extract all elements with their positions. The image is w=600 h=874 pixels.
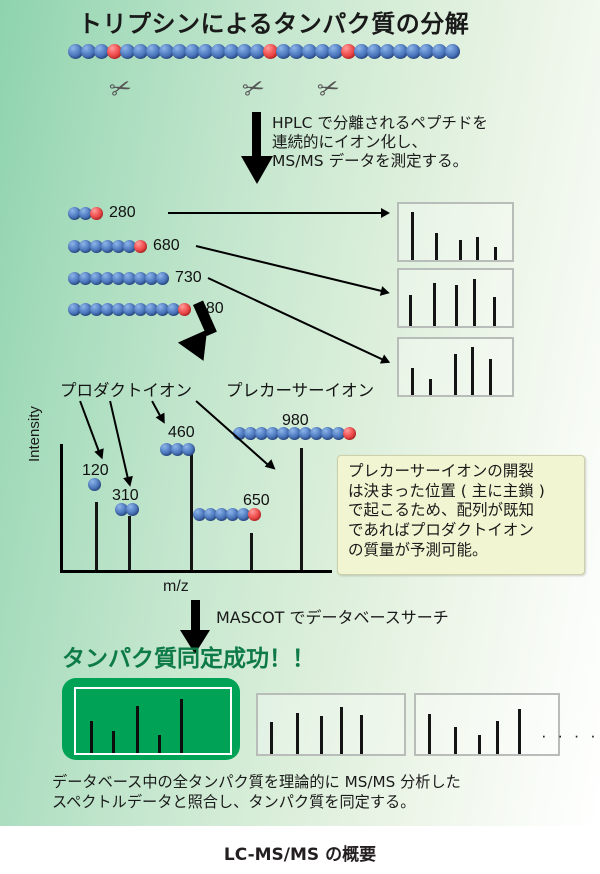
msms-peak xyxy=(300,448,303,570)
spectrum-peak xyxy=(493,297,496,326)
msms-peak xyxy=(95,502,98,570)
caption-text: データベース中の全タンパク質を理論的に MS/MS 分析した スペクトルデータと… xyxy=(52,772,461,812)
callout-line2: は決まった位置 ( 主に主鎖 ) xyxy=(348,482,545,500)
mascot-label: MASCOT でデータベースサーチ xyxy=(216,608,449,628)
connector-arrowhead xyxy=(380,355,392,368)
db-spectrum-peak xyxy=(158,735,161,753)
product-ion-bead-chain xyxy=(88,478,99,491)
x-axis-label: m/z xyxy=(163,577,189,597)
db-spectrum-peak xyxy=(454,727,457,754)
step1-title: トリプシンによるタンパク質の分解 xyxy=(78,10,469,39)
callout-line1: プレカーサーイオンの開裂 xyxy=(348,462,534,480)
spectrum-peak xyxy=(471,347,474,395)
db-spectrum-peak xyxy=(296,713,299,754)
protein-bead-chain xyxy=(68,44,458,59)
peptide-mass-label: 680 xyxy=(153,237,180,255)
connector-arrowhead xyxy=(380,286,391,298)
product-ion-mass-label: 460 xyxy=(168,424,195,442)
step2-text: HPLC で分離されるペプチドを 連続的にイオン化し、 MS/MS データを測定… xyxy=(272,114,488,171)
db-spectrum-3 xyxy=(414,693,560,756)
bead-red xyxy=(343,427,356,440)
spectrum-box-1 xyxy=(397,202,514,262)
db-spectrum-peak xyxy=(360,715,363,754)
bead-blue xyxy=(156,272,169,285)
pointer-line xyxy=(79,401,100,451)
down-arrow-icon xyxy=(188,305,238,371)
connector-line xyxy=(168,212,381,214)
scissors-icon: ✂ xyxy=(240,73,269,104)
msms-peak xyxy=(128,516,131,570)
spectrum-peak xyxy=(433,283,436,326)
spectrum-peak xyxy=(411,368,414,395)
bead-red xyxy=(248,508,261,521)
spectrum-peak xyxy=(459,240,462,260)
caption-line1: データベース中の全タンパク質を理論的に MS/MS 分析した xyxy=(52,773,461,791)
db-spectrum-peak xyxy=(478,735,481,754)
db-spectrum-peak xyxy=(112,731,115,753)
scissors-icon: ✂ xyxy=(315,73,344,104)
step2-line2: 連続的にイオン化し、 xyxy=(272,133,427,151)
db-spectrum-peak xyxy=(320,716,323,754)
spectrum-peak xyxy=(454,354,457,395)
gradient-panel: トリプシンによるタンパク質の分解 ✂ ✂ ✂ HPLC で分離されるペプチドを … xyxy=(0,0,600,826)
db-spectrum-peak xyxy=(518,709,521,754)
pointer-arrowhead xyxy=(94,448,107,461)
spectrum-box-3 xyxy=(397,337,514,397)
db-spectrum-match xyxy=(74,687,232,755)
bead-blue xyxy=(445,44,460,59)
down-arrow-icon xyxy=(240,112,274,184)
identification-success-title: タンパク質同定成功！！ xyxy=(62,645,315,673)
db-spectrum-peak xyxy=(180,699,183,753)
scissors-icon: ✂ xyxy=(107,73,136,104)
bead-red xyxy=(90,207,103,220)
peptide-mass-label: 280 xyxy=(109,204,136,222)
db-spectrum-peak xyxy=(270,722,273,754)
peptide-bead-chain xyxy=(68,303,189,316)
bead-blue xyxy=(182,443,195,456)
step2-line1: HPLC で分離されるペプチドを xyxy=(272,114,488,132)
peptide-bead-chain xyxy=(68,272,167,285)
callout-line3: で起こるため、配列が既知 xyxy=(348,501,534,519)
label-product-ion: プロダクトイオン xyxy=(60,381,192,401)
callout-box: プレカーサーイオンの開裂 は決まった位置 ( 主に主鎖 ) で起こるため、配列が… xyxy=(337,455,585,575)
label-precursor-ion: プレカーサーイオン xyxy=(226,381,374,401)
bead-red xyxy=(134,240,147,253)
spectrum-peak xyxy=(476,237,479,260)
db-spectrum-peak xyxy=(428,714,431,754)
y-axis-label: Intensity xyxy=(26,406,44,462)
spectrum-peak xyxy=(494,247,497,260)
spectrum-peak xyxy=(429,379,432,395)
spectrum-peak xyxy=(455,285,458,326)
db-spectrum-peak xyxy=(136,706,139,753)
y-axis xyxy=(60,444,63,572)
db-spectrum-peak xyxy=(496,721,499,754)
bead-blue xyxy=(126,503,139,516)
callout-line4: であればプロダクトイオン xyxy=(348,521,534,539)
callout-text: プレカーサーイオンの開裂 は決まった位置 ( 主に主鎖 ) で起こるため、配列が… xyxy=(348,462,545,560)
x-axis xyxy=(60,570,332,573)
peptide-bead-chain xyxy=(68,240,145,253)
db-spectrum-2 xyxy=(256,693,406,756)
spectrum-box-2 xyxy=(397,268,514,328)
product-ion-bead-chain xyxy=(115,503,137,516)
step2-line3: MS/MS データを測定する。 xyxy=(272,152,468,170)
spectrum-peak xyxy=(489,359,492,395)
product-ion-bead-chain xyxy=(193,508,259,521)
spectrum-peak xyxy=(411,212,414,260)
product-ion-bead-chain xyxy=(160,443,193,456)
bead-blue xyxy=(88,478,101,491)
caption-line2: スペクトルデータと照合し、タンパク質を同定する。 xyxy=(52,793,415,811)
spectrum-peak xyxy=(409,295,412,326)
peptide-bead-chain xyxy=(68,207,101,220)
precursor-bead-chain xyxy=(233,427,354,440)
continuation-dots: · · · · xyxy=(541,726,599,747)
connector-arrowhead xyxy=(381,208,390,218)
figure-root: トリプシンによるタンパク質の分解 ✂ ✂ ✂ HPLC で分離されるペプチドを … xyxy=(0,0,600,874)
db-spectrum-peak xyxy=(340,707,343,754)
callout-line5: の質量が予測可能。 xyxy=(348,541,488,559)
pointer-line xyxy=(109,401,129,479)
db-spectrum-peak xyxy=(90,721,93,753)
spectrum-peak xyxy=(435,233,438,260)
footer-title: LC-MS/MS の概要 xyxy=(0,840,600,865)
spectrum-peak xyxy=(473,279,476,326)
peptide-mass-label: 730 xyxy=(175,269,202,287)
msms-peak xyxy=(250,533,253,570)
